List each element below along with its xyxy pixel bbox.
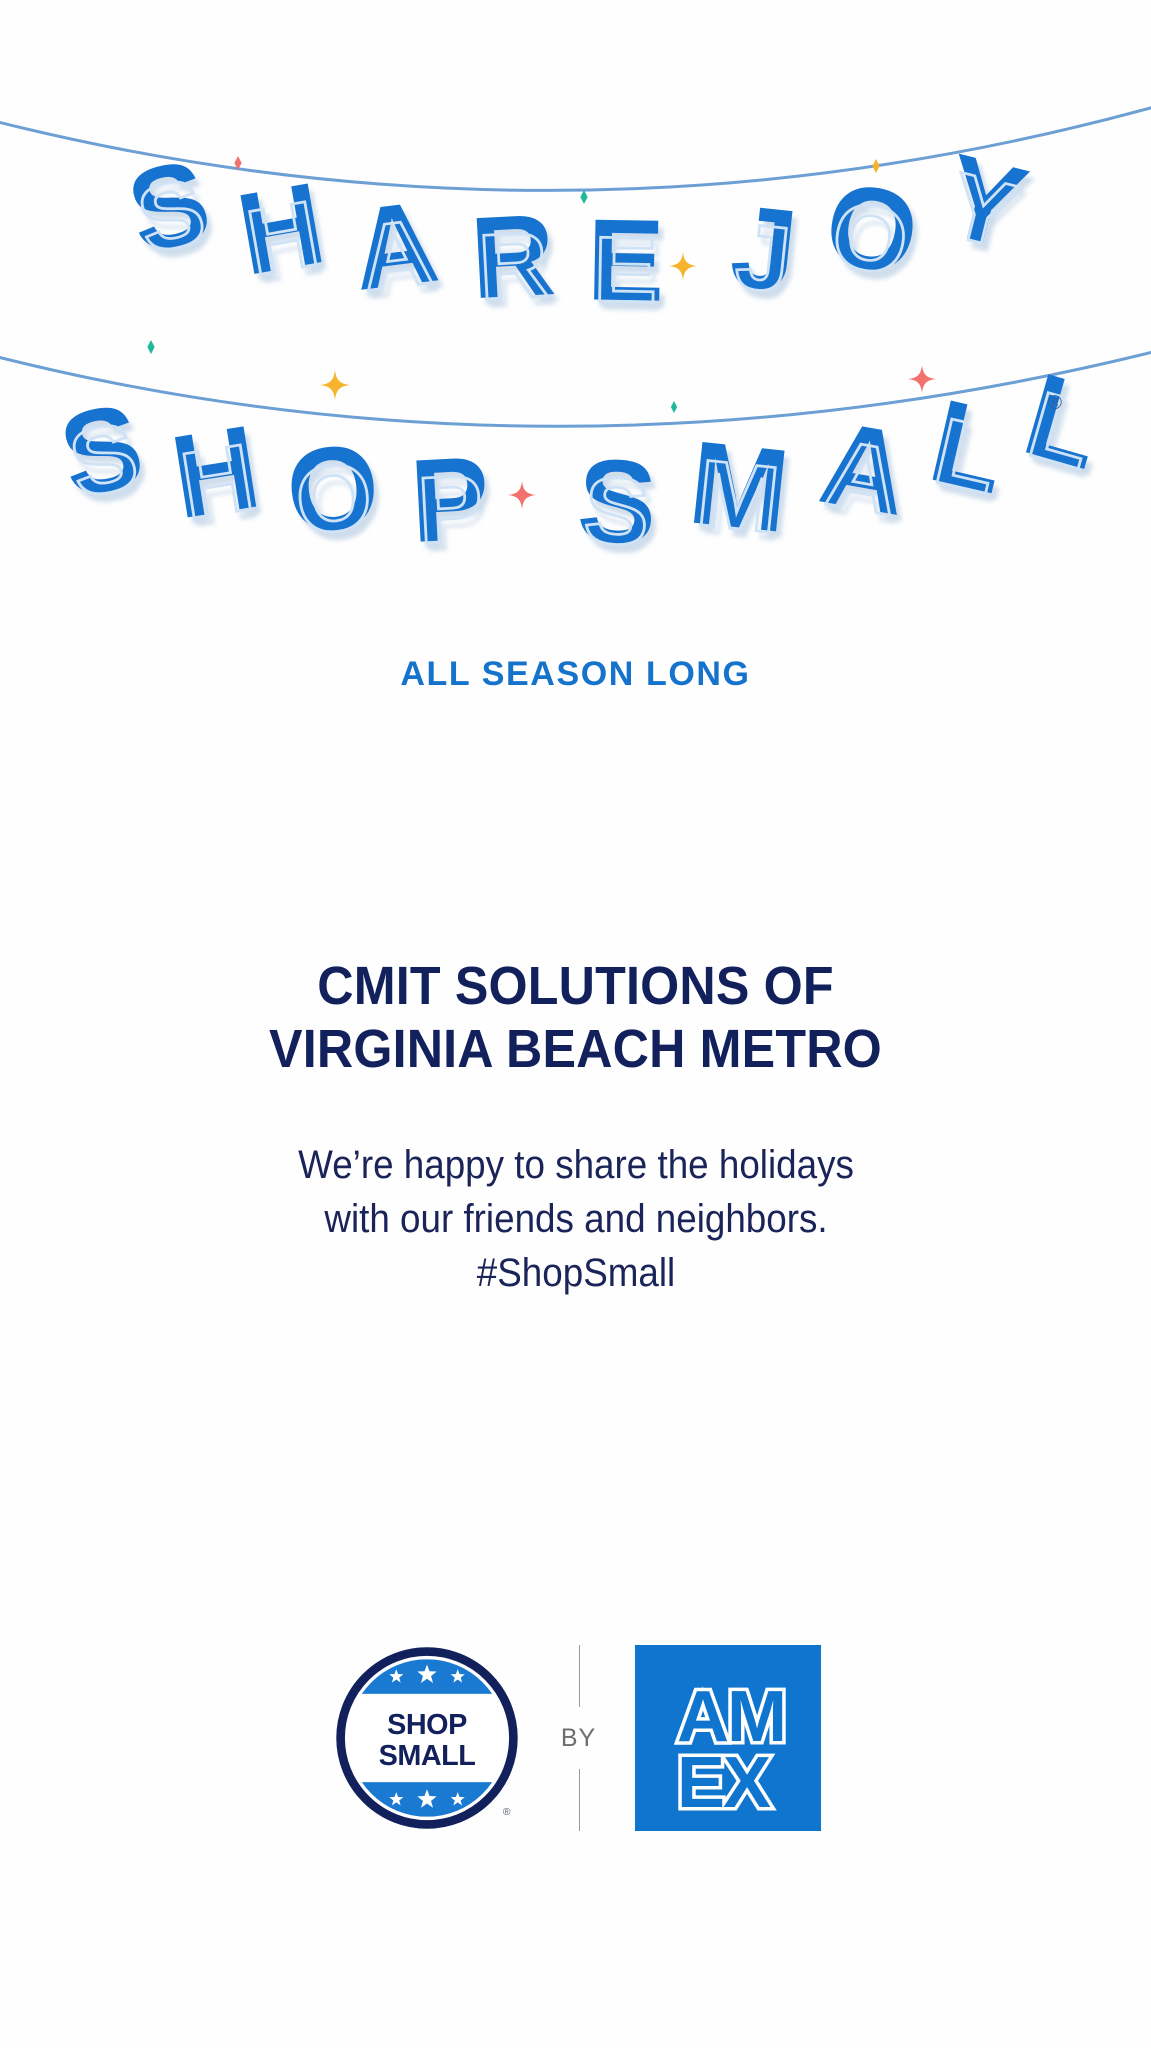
by-divider-line-top [579, 1645, 580, 1707]
badge-word-shop: SHOP [387, 1709, 467, 1741]
banner-letter-P2: P P [407, 432, 493, 568]
merchant-message-line1: We’re happy to share the holidays [226, 1138, 925, 1192]
banner-letter-A1: A A [346, 176, 445, 315]
banner-letter-O2: O O [280, 419, 385, 560]
banner-line-share-joy: S S H H A A R R [117, 129, 1038, 326]
by-divider: BY [523, 1645, 635, 1831]
by-label: BY [553, 1718, 604, 1759]
banner-letter-O1: O O [816, 157, 927, 301]
merchant-name-line1: CMIT SOLUTIONS OF [40, 955, 1110, 1018]
banner-letter-A2: A A [812, 396, 919, 541]
by-divider-line-bottom [579, 1769, 580, 1831]
confetti-sparkle-gold-2 [320, 370, 350, 400]
garland-banner: S S H H A A R R [0, 0, 1151, 600]
banner-letter-L2: L L [1011, 348, 1117, 495]
banner-letter-S1: S S [117, 134, 222, 278]
amex-wordmark: AM EX [677, 1677, 785, 1823]
merchant-message-hashtag: #ShopSmall [226, 1246, 925, 1300]
svg-text:L: L [1018, 372, 1104, 490]
shop-small-badge: SHOP SMALL ® [331, 1642, 523, 1834]
confetti-diamond-teal-3 [671, 401, 677, 413]
banner-letter-Y1: Y Y [931, 129, 1038, 274]
merchant-message: We’re happy to share the holidays with o… [226, 1138, 925, 1300]
merchant-name-line2: VIRGINIA BEACH METRO [40, 1018, 1110, 1081]
banner-letter-H2: H H [163, 401, 268, 545]
sparkle-separator-bottom [508, 481, 536, 509]
banner-letter-J1: J J [725, 180, 803, 316]
svg-text:R: R [476, 212, 550, 319]
merchant-message-line2: with our friends and neighbors. [226, 1192, 925, 1246]
sparkle-separator-top [669, 252, 697, 280]
amex-logo-svg: AM EX [635, 1645, 821, 1831]
merchant-block: CMIT SOLUTIONS OF VIRGINIA BEACH METRO W… [0, 955, 1151, 1300]
svg-text:P: P [415, 455, 485, 564]
svg-text:E: E [593, 217, 658, 322]
banner-letter-S3: S S [574, 434, 660, 570]
confetti-diamond-teal [580, 190, 587, 204]
banner-letter-E1: E E [586, 194, 666, 325]
banner-letter-S2: S S [49, 378, 153, 523]
amex-logo: AM EX [635, 1645, 821, 1831]
banner-letter-R1: R R [468, 189, 558, 323]
confetti-diamond-teal-2 [147, 340, 154, 354]
svg-text:S: S [582, 457, 652, 566]
svg-text:M: M [693, 440, 784, 554]
confetti-sparkle-coral [908, 365, 936, 393]
banner-registered-mark: ® [1048, 393, 1062, 414]
shop-small-badge-svg: SHOP SMALL ® [331, 1642, 523, 1834]
logo-lockup: SHOP SMALL ® BY AM EX [0, 1628, 1151, 1848]
banner-line-shop-small: S S H H O O P P [49, 348, 1116, 570]
badge-word-small: SMALL [378, 1740, 475, 1772]
badge-registered-mark: ® [502, 1806, 510, 1818]
amex-text-ex: EX [677, 1743, 771, 1823]
svg-text:A: A [356, 199, 437, 310]
merchant-name: CMIT SOLUTIONS OF VIRGINIA BEACH METRO [40, 955, 1110, 1080]
svg-text:J: J [731, 203, 794, 312]
all-season-long-label: ALL SEASON LONG [0, 655, 1151, 694]
svg-text:O: O [291, 442, 377, 555]
banner-svg: S S H H A A R R [0, 0, 1151, 600]
banner-letter-M2: M M [683, 416, 795, 558]
shop-small-poster: S S H H A A R R [0, 0, 1151, 2048]
